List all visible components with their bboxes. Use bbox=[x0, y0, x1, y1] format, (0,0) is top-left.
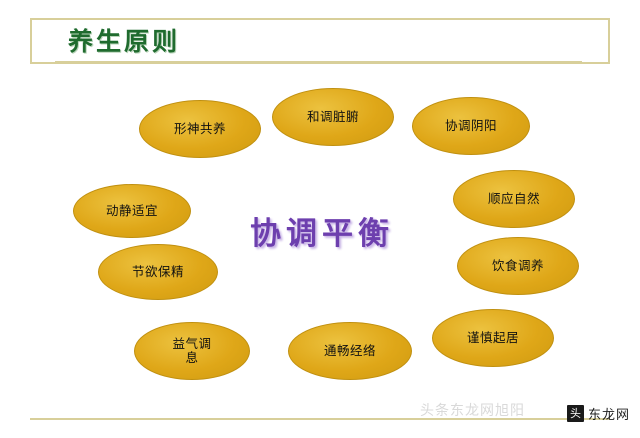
principle-node-label: 饮食调养 bbox=[492, 259, 544, 273]
center-concept-label: 协调平衡 bbox=[250, 208, 394, 253]
principle-node-label: 益气调息 bbox=[172, 337, 211, 366]
principle-node-label: 通畅经络 bbox=[324, 344, 376, 358]
principle-node-label: 形神共养 bbox=[174, 122, 226, 136]
principle-node-label: 动静适宜 bbox=[106, 204, 158, 218]
watermark-logo-icon: 头 bbox=[567, 405, 584, 422]
watermark-label: 东龙网 bbox=[588, 404, 630, 423]
principle-node[interactable]: 动静适宜 bbox=[73, 184, 191, 238]
principle-node-label: 协调阴阳 bbox=[445, 119, 497, 133]
title-underline bbox=[55, 61, 582, 63]
principle-node[interactable]: 通畅经络 bbox=[288, 322, 412, 380]
watermark: 头 东龙网 bbox=[567, 404, 630, 423]
watermark-ghost-text: 头条东龙网旭阳 bbox=[420, 400, 525, 420]
principle-node[interactable]: 协调阴阳 bbox=[412, 97, 530, 155]
slide-canvas: 养生原则 协调平衡 和调脏腑协调阴阳形神共养顺应自然动静适宜饮食调养节欲保精谨慎… bbox=[0, 0, 640, 438]
principle-node-label: 节欲保精 bbox=[132, 265, 184, 279]
principle-node-label: 谨慎起居 bbox=[467, 331, 519, 345]
principle-node[interactable]: 谨慎起居 bbox=[432, 309, 554, 367]
principle-node[interactable]: 节欲保精 bbox=[98, 244, 218, 300]
principle-node[interactable]: 饮食调养 bbox=[457, 237, 579, 295]
principle-node[interactable]: 顺应自然 bbox=[453, 170, 575, 228]
page-title: 养生原则 bbox=[68, 22, 180, 58]
principle-node-label: 顺应自然 bbox=[488, 192, 540, 206]
principle-node-label: 和调脏腑 bbox=[307, 110, 359, 124]
principle-node[interactable]: 和调脏腑 bbox=[272, 88, 394, 146]
principle-node[interactable]: 形神共养 bbox=[139, 100, 261, 158]
principle-node[interactable]: 益气调息 bbox=[134, 322, 250, 380]
